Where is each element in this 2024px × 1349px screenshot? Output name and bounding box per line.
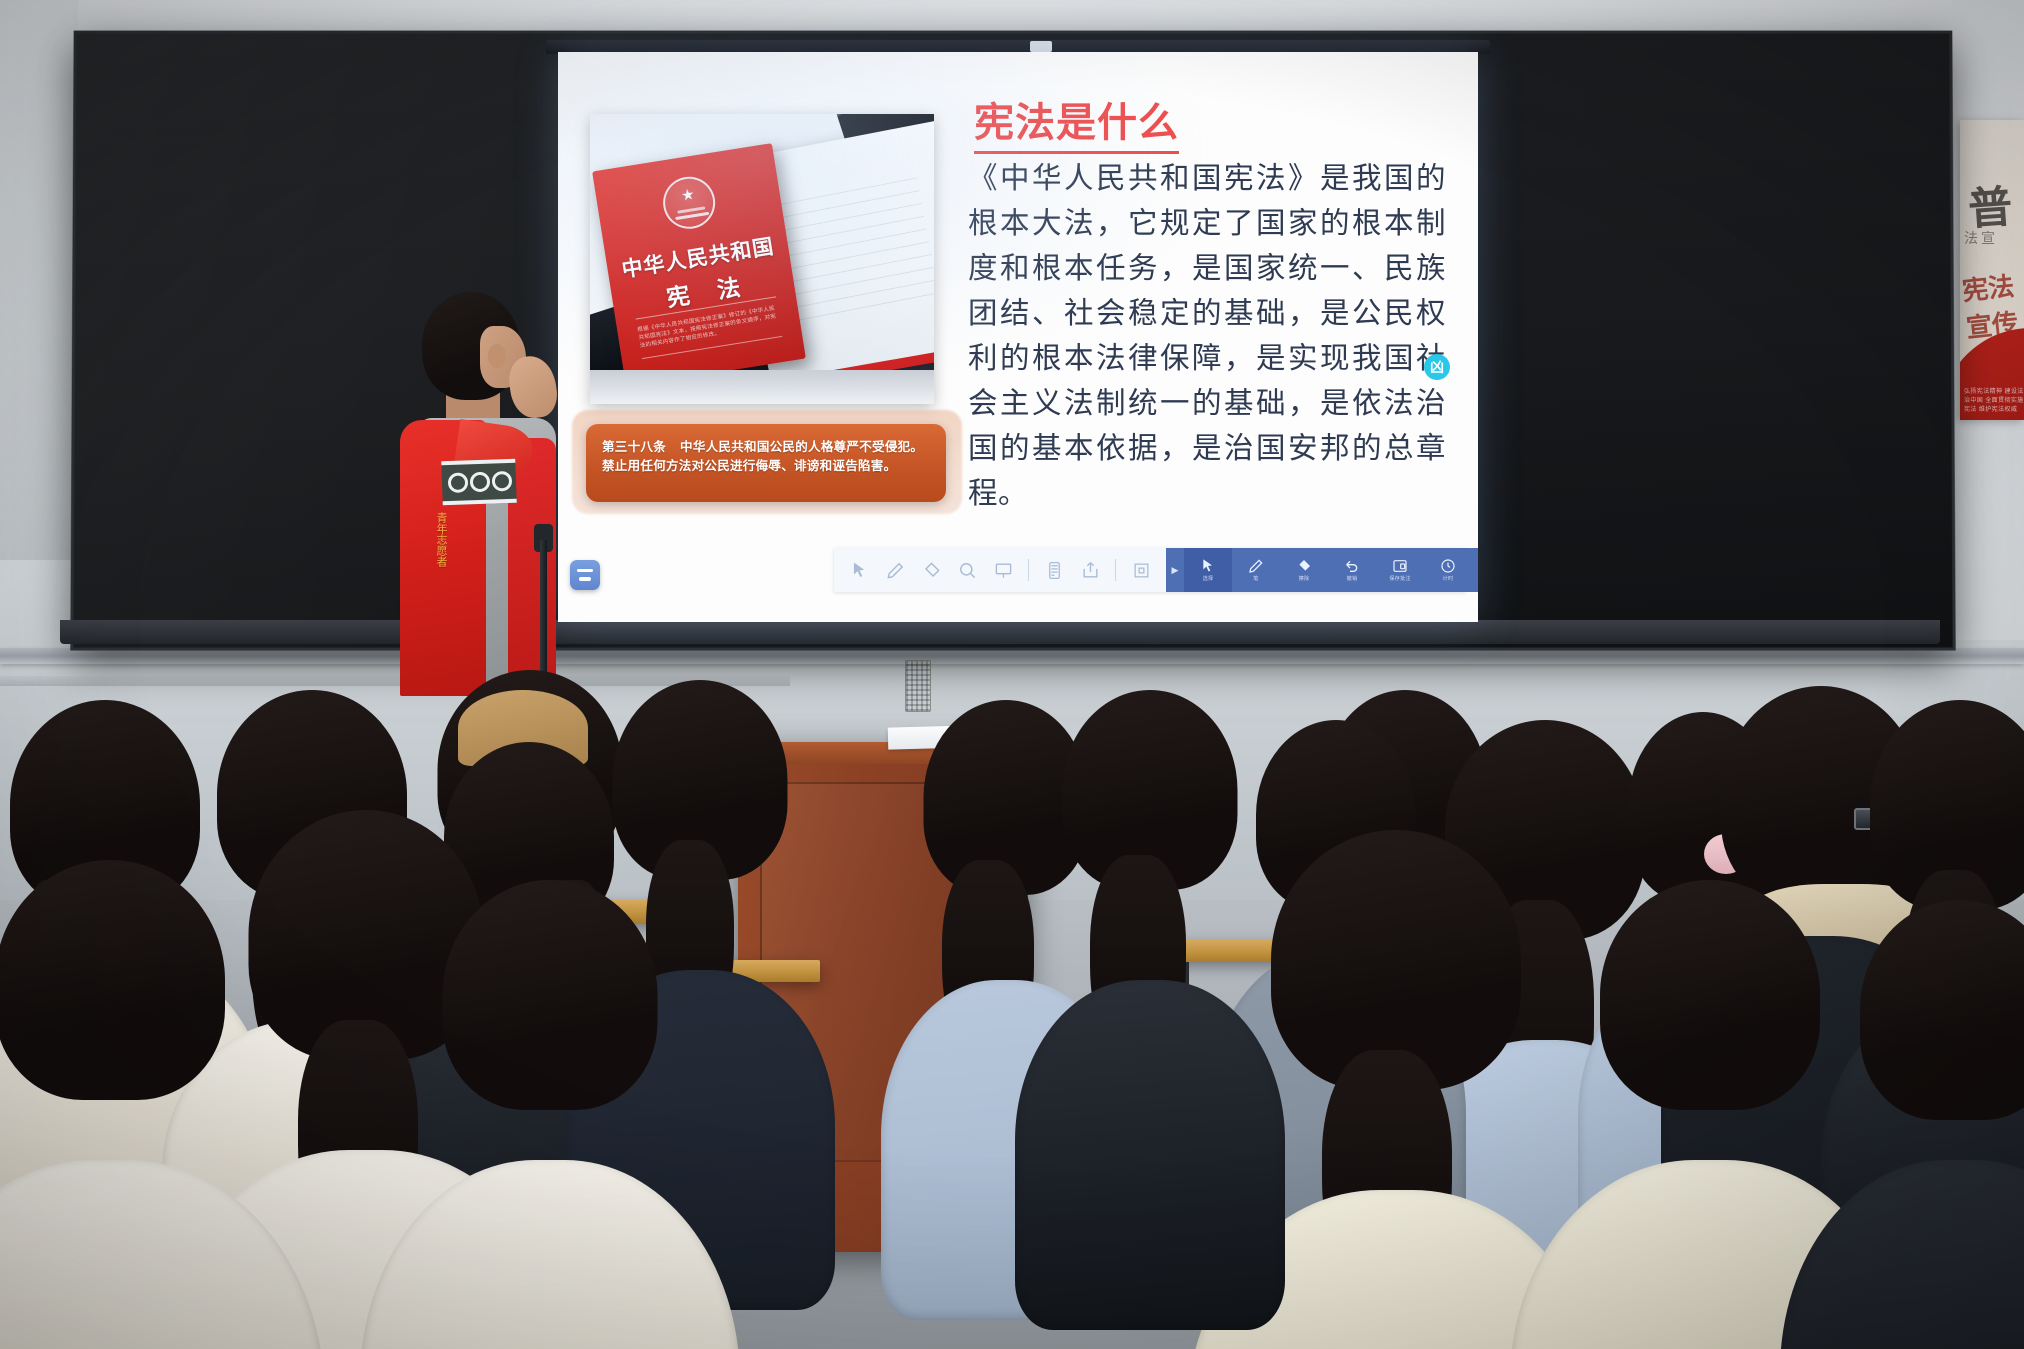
annotation-eraser-button[interactable]: 擦除 (1280, 548, 1328, 592)
whiteboard-toolbar[interactable]: ▶ 选择 笔 擦除 撤销 (834, 548, 1466, 592)
toolbar-collapse-handle[interactable]: ▶ (1166, 548, 1184, 592)
student-coat (1015, 980, 1285, 1330)
toolbar-divider-2 (1115, 559, 1116, 581)
student-hair (1860, 900, 2024, 1120)
student-seated (0, 860, 260, 1349)
save-icon[interactable]: 保存批注 (1376, 548, 1424, 592)
presenter-ear (488, 344, 506, 368)
toolbar-divider (1028, 559, 1029, 581)
eraser-icon[interactable] (914, 553, 948, 587)
board-bottom-rail (60, 620, 1940, 644)
presenter-hand (506, 353, 560, 421)
annotation-eraser-label: 擦除 (1299, 575, 1310, 582)
national-emblem-icon: ★ (659, 173, 718, 232)
clear-icon[interactable]: 清除批注 (1472, 548, 1478, 592)
student-seated (1050, 690, 1250, 1090)
cursor-icon[interactable] (842, 553, 876, 587)
pen-icon[interactable] (878, 553, 912, 587)
slide-body-text: 《中华人民共和国宪法》是我国的根本大法，它规定了国家的根本制度和根本任务，是国家… (968, 156, 1446, 516)
presentation-slide: ★ 中华人民共和国 宪 法 根据《中华人民共和国宪法修正案》修订的《中华人民共和… (558, 52, 1478, 622)
screenshot-icon[interactable] (1124, 553, 1158, 587)
toolbar-left-group (834, 553, 1158, 587)
sleeve-circle-3 (492, 471, 513, 492)
wall-poster: 普 法宣 宪法宣传 弘扬宪法精神 建设法治中国 全面贯彻实施宪法 维护宪法权威 (1960, 120, 2024, 420)
interactive-whiteboard-screen[interactable]: ★ 中华人民共和国 宪 法 根据《中华人民共和国宪法修正案》修订的《中华人民共和… (558, 52, 1478, 622)
classroom-scene: 普 法宣 宪法宣传 弘扬宪法精神 建设法治中国 全面贯彻实施宪法 维护宪法权威 (0, 0, 2024, 1349)
menu-toggle-button[interactable] (570, 560, 600, 590)
poster-subtitle: 法宣 (1964, 228, 1998, 248)
menu-toggle-line-top (577, 569, 593, 572)
slide-title: 宪法是什么 (974, 90, 1179, 154)
presentation-icon[interactable] (986, 553, 1020, 587)
constitution-book-cover: ★ 中华人民共和国 宪 法 根据《中华人民共和国宪法修正案》修订的《中华人民共和… (592, 143, 806, 387)
student-hair (1600, 880, 1820, 1110)
sweater-sleeve-pattern (441, 459, 516, 506)
poster-footer-text: 弘扬宪法精神 建设法治中国 全面贯彻实施宪法 维护宪法权威 (1964, 388, 2024, 415)
sleeve-circle-2 (470, 472, 491, 493)
presenter-person: 青年志愿者 (384, 292, 574, 692)
student-hair (0, 860, 225, 1100)
annotation-pen-label: 笔 (1253, 575, 1258, 582)
app-watermark-icon: 凶 (1424, 354, 1450, 380)
student-hair (443, 880, 658, 1110)
photo-desk-surface (590, 370, 934, 404)
sleeve-circle-1 (448, 472, 469, 493)
emblem-star: ★ (680, 187, 696, 204)
save-label: 保存批注 (1389, 575, 1411, 582)
clock-icon[interactable]: 计时 (1424, 548, 1472, 592)
camera-icon (1030, 41, 1052, 52)
undo-icon[interactable]: 撤销 (1328, 548, 1376, 592)
share-icon[interactable] (1073, 553, 1107, 587)
student-seated (1830, 900, 2024, 1349)
annotation-cursor-label: 选择 (1203, 575, 1214, 582)
microphone-stand (540, 540, 547, 690)
menu-toggle-line-bottom (579, 577, 591, 581)
student-seated (400, 880, 700, 1349)
article-callout-box: 第三十八条中华人民共和国公民的人格尊严不受侵犯。禁止用任何方法对公民进行侮辱、诽… (586, 424, 946, 502)
undo-label: 撤销 (1347, 575, 1358, 582)
magnifier-icon[interactable] (950, 553, 984, 587)
toolbar-annotation-group: ▶ 选择 笔 擦除 撤销 (1166, 548, 1478, 592)
annotation-cursor-button[interactable]: 选择 (1184, 548, 1232, 592)
clock-label: 计时 (1443, 575, 1454, 582)
vest-printed-text: 青年志愿者 (410, 512, 450, 567)
article-number-label: 第三十八条 (602, 439, 666, 454)
keypad-icon[interactable] (1037, 553, 1071, 587)
student-coat (360, 1160, 740, 1349)
wall-left (0, 0, 78, 560)
annotation-pen-button[interactable]: 笔 (1232, 548, 1280, 592)
student-seated (1256, 830, 1536, 1349)
constitution-photo: ★ 中华人民共和国 宪 法 根据《中华人民共和国宪法修正案》修订的《中华人民共和… (590, 114, 934, 404)
